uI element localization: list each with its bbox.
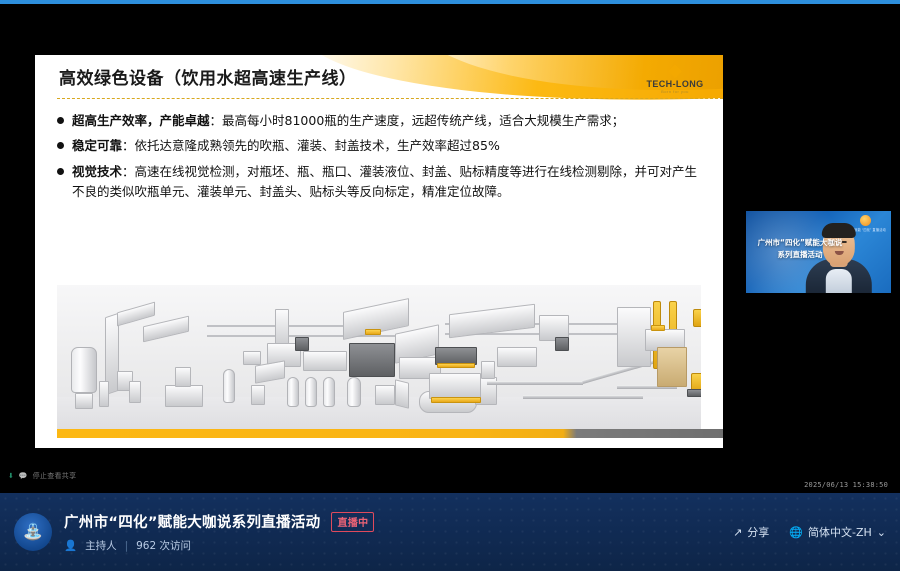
- slide-title: 高效绿色设备（饮用水超高速生产线）: [59, 64, 357, 89]
- status-badge: 直播中: [331, 512, 374, 532]
- production-line-figure: [57, 285, 701, 431]
- slide-accent-bar: [57, 429, 723, 438]
- slide-bullet-list: 超高生产效率，产能卓越：最高每小时81000瓶的生产速度，远超传统产线，适合大规…: [35, 103, 723, 202]
- host-label: 主持人: [85, 538, 117, 553]
- logo-tagline: Born for you: [637, 90, 713, 94]
- stream-timestamp: 2025/06/13 15:38:50: [804, 481, 888, 489]
- bullet-dot-icon: [57, 168, 64, 175]
- bullet-colon: ：: [210, 113, 223, 128]
- slide-header: 高效绿色设备（饮用水超高速生产线） ◆ TECH-LONG Born for y…: [35, 55, 723, 103]
- stop-sharing-label[interactable]: 停止查看共享: [33, 471, 77, 481]
- list-item: 超高生产效率，产能卓越：最高每小时81000瓶的生产速度，远超传统产线，适合大规…: [57, 111, 703, 131]
- bullet-colon: ：: [122, 138, 135, 153]
- bullet-colon: ：: [122, 164, 135, 179]
- logo-mark-icon: ◆: [637, 61, 713, 79]
- view-count: 962 次访问: [136, 538, 191, 553]
- live-stream-page: 高效绿色设备（饮用水超高速生产线） ◆ TECH-LONG Born for y…: [0, 0, 900, 571]
- stage-mini-toolbar[interactable]: ⬇ 💬 停止查看共享: [8, 471, 76, 481]
- language-label: 简体中文-ZH: [808, 524, 872, 540]
- person-icon: 👤: [64, 539, 77, 552]
- video-overlay-text: 广州市“四化”赋能大咖说 系列直播活动: [752, 237, 848, 260]
- chevron-down-icon: ⌄: [877, 526, 886, 539]
- avatar-glyph-icon: ⛲: [14, 513, 52, 551]
- list-item: 稳定可靠：依托达意隆成熟领先的吹瓶、灌装、封盖技术，生产效率超过85%: [57, 136, 703, 156]
- bullet-dot-icon: [57, 117, 64, 124]
- bullet-lead: 稳定可靠: [72, 138, 122, 153]
- techlong-logo: ◆ TECH-LONG Born for you: [637, 61, 713, 94]
- speaker-video-thumbnail[interactable]: 广州市赋能 “四化” 直播活动 广州市“四化”赋能大咖说 系列直播活动: [737, 206, 900, 298]
- stream-info-bar: ⛲ 广州市“四化”赋能大咖说系列直播活动 直播中 👤 主持人 | 962 次访问…: [0, 493, 900, 571]
- comment-icon[interactable]: 💬: [19, 472, 28, 480]
- language-selector[interactable]: 🌐 简体中文-ZH ⌄: [789, 524, 886, 540]
- share-icon: ↗: [733, 526, 742, 539]
- avatar[interactable]: ⛲: [14, 513, 52, 551]
- share-button[interactable]: ↗ 分享: [733, 524, 769, 540]
- bullet-body: 依托达意隆成熟领先的吹瓶、灌装、封盖技术，生产效率超过85%: [135, 138, 500, 153]
- bullet-body: 最高每小时81000瓶的生产速度，远超传统产线，适合大规模生产需求；: [222, 113, 624, 128]
- header-divider: [57, 98, 723, 99]
- stream-title: 广州市“四化”赋能大咖说系列直播活动: [64, 511, 320, 532]
- shared-slide: 高效绿色设备（饮用水超高速生产线） ◆ TECH-LONG Born for y…: [35, 55, 723, 448]
- download-icon[interactable]: ⬇: [8, 472, 14, 480]
- share-label: 分享: [747, 524, 769, 540]
- list-item: 视觉技术：高速在线视觉检测，对瓶坯、瓶、瓶口、灌装液位、封盖、贴标精度等进行在线…: [57, 162, 703, 203]
- bullet-text: 稳定可靠：依托达意隆成熟领先的吹瓶、灌装、封盖技术，生产效率超过85%: [72, 136, 500, 156]
- bullet-text: 视觉技术：高速在线视觉检测，对瓶坯、瓶、瓶口、灌装液位、封盖、贴标精度等进行在线…: [72, 162, 703, 203]
- bullet-dot-icon: [57, 142, 64, 149]
- meta-separator: |: [125, 540, 129, 552]
- bullet-lead: 视觉技术: [72, 164, 122, 179]
- video-overlay-line1: 广州市“四化”赋能大咖说: [752, 237, 848, 249]
- bullet-lead: 超高生产效率，产能卓越: [72, 113, 210, 128]
- logo-wordmark: TECH-LONG: [637, 80, 713, 89]
- bullet-text: 超高生产效率，产能卓越：最高每小时81000瓶的生产速度，远超传统产线，适合大规…: [72, 111, 624, 131]
- bullet-body: 高速在线视觉检测，对瓶坯、瓶、瓶口、灌装液位、封盖、贴标精度等进行在线检测剔除，…: [72, 164, 697, 199]
- video-frame: 广州市赋能 “四化” 直播活动 广州市“四化”赋能大咖说 系列直播活动: [746, 211, 891, 293]
- video-overlay-line2: 系列直播活动: [752, 249, 848, 261]
- video-stage: 高效绿色设备（饮用水超高速生产线） ◆ TECH-LONG Born for y…: [0, 4, 900, 493]
- globe-icon: 🌐: [789, 526, 803, 539]
